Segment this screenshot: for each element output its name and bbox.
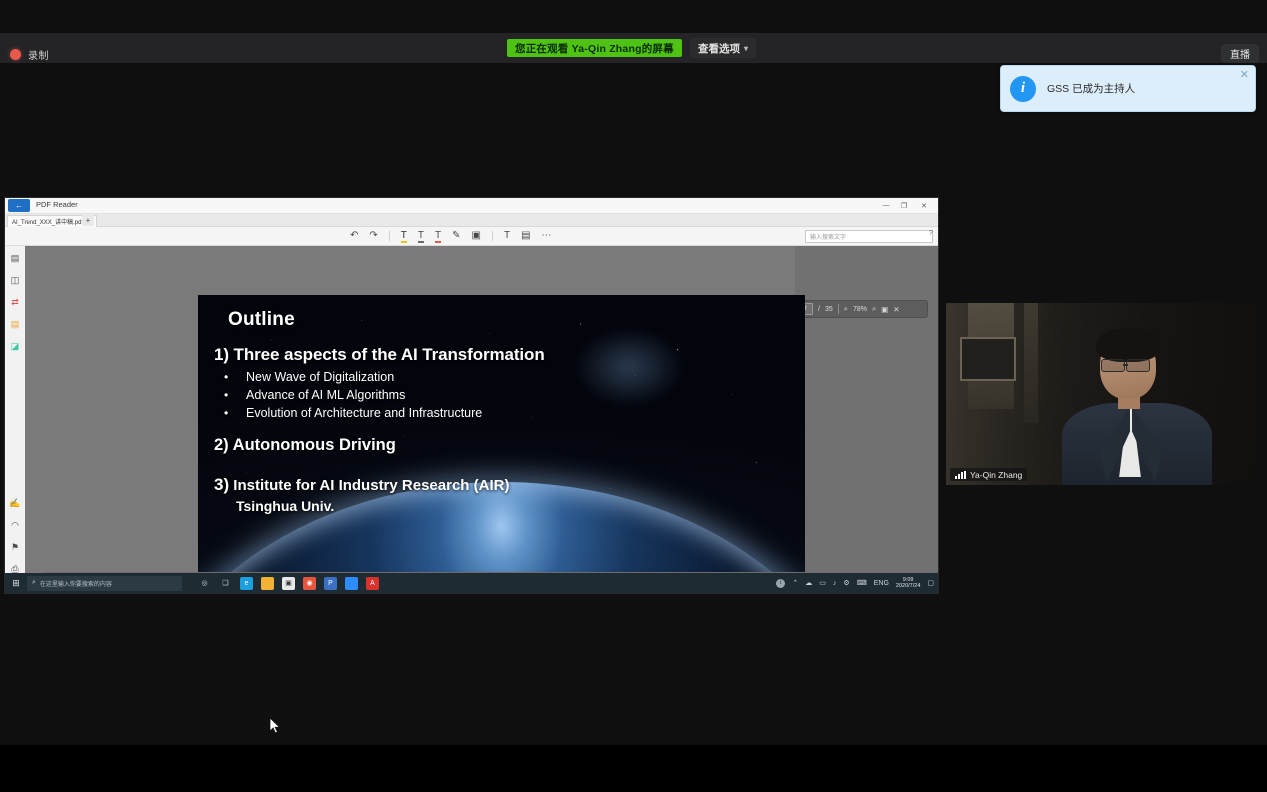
slide-section-1-bullets: •New Wave of Digitalization •Advance of … [214, 370, 789, 420]
taskbar-search-placeholder: 在这里输入你要搜索的内容 [40, 579, 112, 588]
speaker-video-tile[interactable]: Ya-Qin Zhang [946, 303, 1261, 485]
recording-indicator[interactable]: 录制 [10, 47, 49, 62]
toolbar-divider [389, 231, 390, 241]
control-divider [838, 304, 839, 314]
magnifier-icon: ⌕ [32, 579, 36, 587]
screen-root: 录制 您正在观看 Ya-Qin Zhang的屏幕 查看选项 ▾ 直播 i GSS… [0, 0, 1267, 792]
help-icon[interactable]: ? [929, 230, 933, 237]
page-navigation-control[interactable]: 2 / 35 ⌕ 78% ⌕ ▣ ✕ [791, 300, 928, 318]
toolbar-divider [492, 231, 493, 241]
slide-bullet-text: Evolution of Architecture and Infrastruc… [246, 406, 482, 420]
tray-cloud-icon[interactable]: ☁ [805, 579, 812, 587]
taskbar-search-input[interactable]: ⌕ 在这里输入你要搜索的内容 [27, 576, 182, 591]
tray-expand-icon[interactable]: ⌃ [792, 579, 798, 587]
tray-keyboard-icon[interactable]: ⌨ [857, 579, 867, 587]
cortana-icon[interactable]: ◎ [198, 577, 211, 590]
slide-section-3: 3) Institute for AI Industry Research (A… [214, 475, 789, 495]
notification-center-icon[interactable]: ▢ [927, 579, 934, 587]
zoom-level-label: 78% [853, 306, 867, 313]
strikethrough-icon[interactable]: T [435, 231, 441, 241]
slide-bullet: •Advance of AI ML Algorithms [246, 388, 789, 402]
pdf-left-sidebar: ▤ ◫ ⇄ ▤ ◪ ✍ ◠ ⚑ ⎙ [5, 246, 26, 584]
slide-section-3-heading: Institute for AI Industry Research (AIR) [233, 477, 509, 494]
glasses-right-lens-icon [1126, 359, 1150, 372]
close-button[interactable]: ✕ [916, 200, 932, 211]
page-separator: / [818, 306, 820, 313]
edge-icon[interactable]: e [240, 577, 253, 590]
undo-icon[interactable]: ↶ [350, 231, 358, 241]
recording-dot-icon [10, 49, 21, 60]
close-icon[interactable]: ✕ [1240, 70, 1249, 81]
slide-bullet-text: New Wave of Digitalization [246, 370, 394, 384]
slide-section-3-number: 3) [214, 475, 229, 494]
chrome-icon[interactable]: ◉ [303, 577, 316, 590]
glasses-bridge [1123, 364, 1128, 366]
signature-icon[interactable]: ✍ [9, 497, 22, 510]
redo-icon[interactable]: ↷ [369, 231, 377, 241]
powerpoint-icon[interactable]: P [324, 577, 337, 590]
tray-help-icon[interactable]: i [776, 579, 785, 588]
maximize-button[interactable]: ❐ [896, 200, 912, 211]
slide-bullet: •New Wave of Digitalization [246, 370, 789, 384]
pencil-icon[interactable]: ✎ [452, 231, 460, 241]
host-change-toast[interactable]: i GSS 已成为主持人 ✕ [1000, 65, 1256, 112]
highlight-icon[interactable]: T [401, 231, 407, 241]
fit-page-icon[interactable]: ▣ [881, 305, 888, 314]
slide-section-2: 2) Autonomous Driving [214, 436, 789, 455]
note-color-icon[interactable]: ▤ [9, 318, 22, 331]
slide-section-1-number: 1) [214, 345, 229, 364]
clock-date: 2020/7/24 [896, 583, 920, 589]
stamp-color-icon[interactable]: ◪ [9, 340, 22, 353]
slide-section-1: 1) Three aspects of the AI Transformatio… [214, 345, 789, 365]
pdf-right-panel [795, 246, 938, 578]
pdf-tab-bar: AI_Trend_XXX_讲中稿.pdf ✕ + [5, 214, 938, 227]
more-options-icon[interactable]: ⋯ [542, 231, 552, 241]
pdf-body: ▤ ◫ ⇄ ▤ ◪ ✍ ◠ ⚑ ⎙ 2 / 35 ⌕ 78% [5, 246, 938, 578]
pdf-reader-icon[interactable]: A [366, 577, 379, 590]
close-icon[interactable]: ✕ [893, 305, 899, 314]
glasses-left-lens-icon [1101, 359, 1125, 372]
pdf-title-bar: ← PDF Reader — ❐ ✕ [5, 198, 938, 214]
info-icon: i [1010, 76, 1036, 102]
bullet-dot-icon: • [224, 406, 228, 420]
video-pillar-decoration [1024, 303, 1038, 423]
slide-bullet: •Evolution of Architecture and Infrastru… [246, 406, 789, 420]
bookmark-color-icon[interactable]: ⇄ [9, 296, 22, 309]
tray-battery-icon[interactable]: ▭ [819, 579, 826, 587]
view-options-label: 查看选项 [698, 41, 740, 56]
bottom-letterbox [0, 745, 1267, 792]
speaker-hair [1096, 328, 1160, 362]
audio-bars-icon [955, 471, 966, 479]
slide-section-2-heading: Autonomous Driving [233, 436, 396, 454]
slide-section-2-number: 2) [214, 436, 229, 454]
search-input[interactable]: 输入搜索文字 [805, 230, 933, 243]
pdf-toolbar: ↶ ↷ T T T ✎ ▣ T ▤ [5, 227, 938, 246]
textbox-icon[interactable]: T [504, 231, 510, 241]
live-stream-button[interactable]: 直播 [1221, 44, 1259, 63]
chevron-down-icon: ▾ [744, 44, 748, 53]
video-wall-art [960, 337, 1016, 381]
zoom-icon[interactable] [345, 577, 358, 590]
back-arrow-icon[interactable]: ← [8, 199, 30, 212]
slide-bullet-text: Advance of AI ML Algorithms [246, 388, 405, 402]
strike-color-bar [435, 241, 441, 243]
toast-message: GSS 已成为主持人 [1047, 81, 1135, 96]
bullet-dot-icon: • [224, 388, 228, 402]
bullet-dot-icon: • [224, 370, 228, 384]
recording-label: 录制 [28, 47, 49, 62]
slide-title: Outline [228, 309, 789, 331]
underline-color-bar [418, 241, 424, 243]
file-explorer-icon[interactable] [261, 577, 274, 590]
tray-volume-icon[interactable]: ⚙ [843, 579, 849, 587]
taskbar-system-tray: i ⌃ ☁ ▭ ♪ ⚙ ⌨ ENG 9:09 2020/7/24 ▢ [776, 577, 938, 590]
new-tab-button[interactable]: + [82, 215, 94, 226]
page-panel-icon[interactable]: ◫ [9, 274, 22, 287]
underline-icon[interactable]: T [418, 231, 424, 241]
search-placeholder: 输入搜索文字 [810, 232, 846, 241]
stamp-icon[interactable]: ▤ [521, 231, 530, 241]
slide-content: Outline 1) Three aspects of the AI Trans… [198, 295, 805, 593]
total-pages-label: 35 [825, 306, 833, 313]
bookmark-icon[interactable]: ⚑ [9, 541, 22, 554]
windows-taskbar: ⊞ ⌕ 在这里输入你要搜索的内容 ◎ ❑ e ▣ ◉ P A i ⌃ ☁ ▭ [5, 573, 938, 593]
tray-language-label[interactable]: ENG [874, 580, 889, 587]
store-icon[interactable]: ▣ [282, 577, 295, 590]
eye-icon[interactable]: ◠ [9, 519, 22, 532]
shared-screen-pdf-window[interactable]: ← PDF Reader — ❐ ✕ AI_Trend_XXX_讲中稿.pdf … [5, 198, 938, 593]
pdf-tab-filename: AI_Trend_XXX_讲中稿.pdf [12, 217, 83, 226]
thumbnails-icon[interactable]: ▤ [9, 252, 22, 265]
live-stream-label: 直播 [1230, 46, 1250, 61]
pdf-canvas[interactable]: 2 / 35 ⌕ 78% ⌕ ▣ ✕ Outl [25, 246, 938, 578]
windows-start-icon[interactable]: ⊞ [5, 573, 27, 593]
taskbar-app-list: ◎ ❑ e ▣ ◉ P A [198, 577, 379, 590]
magnifier-icon[interactable]: ⌕ [844, 304, 848, 314]
screen-share-banner: 您正在观看 Ya-Qin Zhang的屏幕 [507, 39, 682, 57]
tray-network-icon[interactable]: ♪ [833, 580, 837, 587]
view-options-button[interactable]: 查看选项 ▾ [690, 38, 756, 58]
speaker-name-label: Ya-Qin Zhang [970, 470, 1022, 480]
slide-section-3-subtitle: Tsinghua Univ. [236, 498, 789, 514]
speaker-name-badge: Ya-Qin Zhang [950, 468, 1027, 481]
taskbar-clock[interactable]: 9:09 2020/7/24 [896, 577, 920, 590]
screen-share-banner-text: 您正在观看 Ya-Qin Zhang的屏幕 [515, 41, 674, 56]
presentation-slide: Outline 1) Three aspects of the AI Trans… [198, 295, 805, 593]
task-view-icon[interactable]: ❑ [219, 577, 232, 590]
mouse-cursor-icon [270, 718, 281, 734]
pdf-app-title: PDF Reader [36, 200, 78, 209]
zoom-in-icon[interactable]: ⌕ [872, 304, 876, 314]
image-icon[interactable]: ▣ [472, 231, 481, 241]
highlight-color-bar [401, 241, 407, 243]
slide-section-1-heading: Three aspects of the AI Transformation [234, 345, 545, 364]
minimize-button[interactable]: — [878, 200, 894, 211]
speaker-figure [1064, 333, 1214, 485]
